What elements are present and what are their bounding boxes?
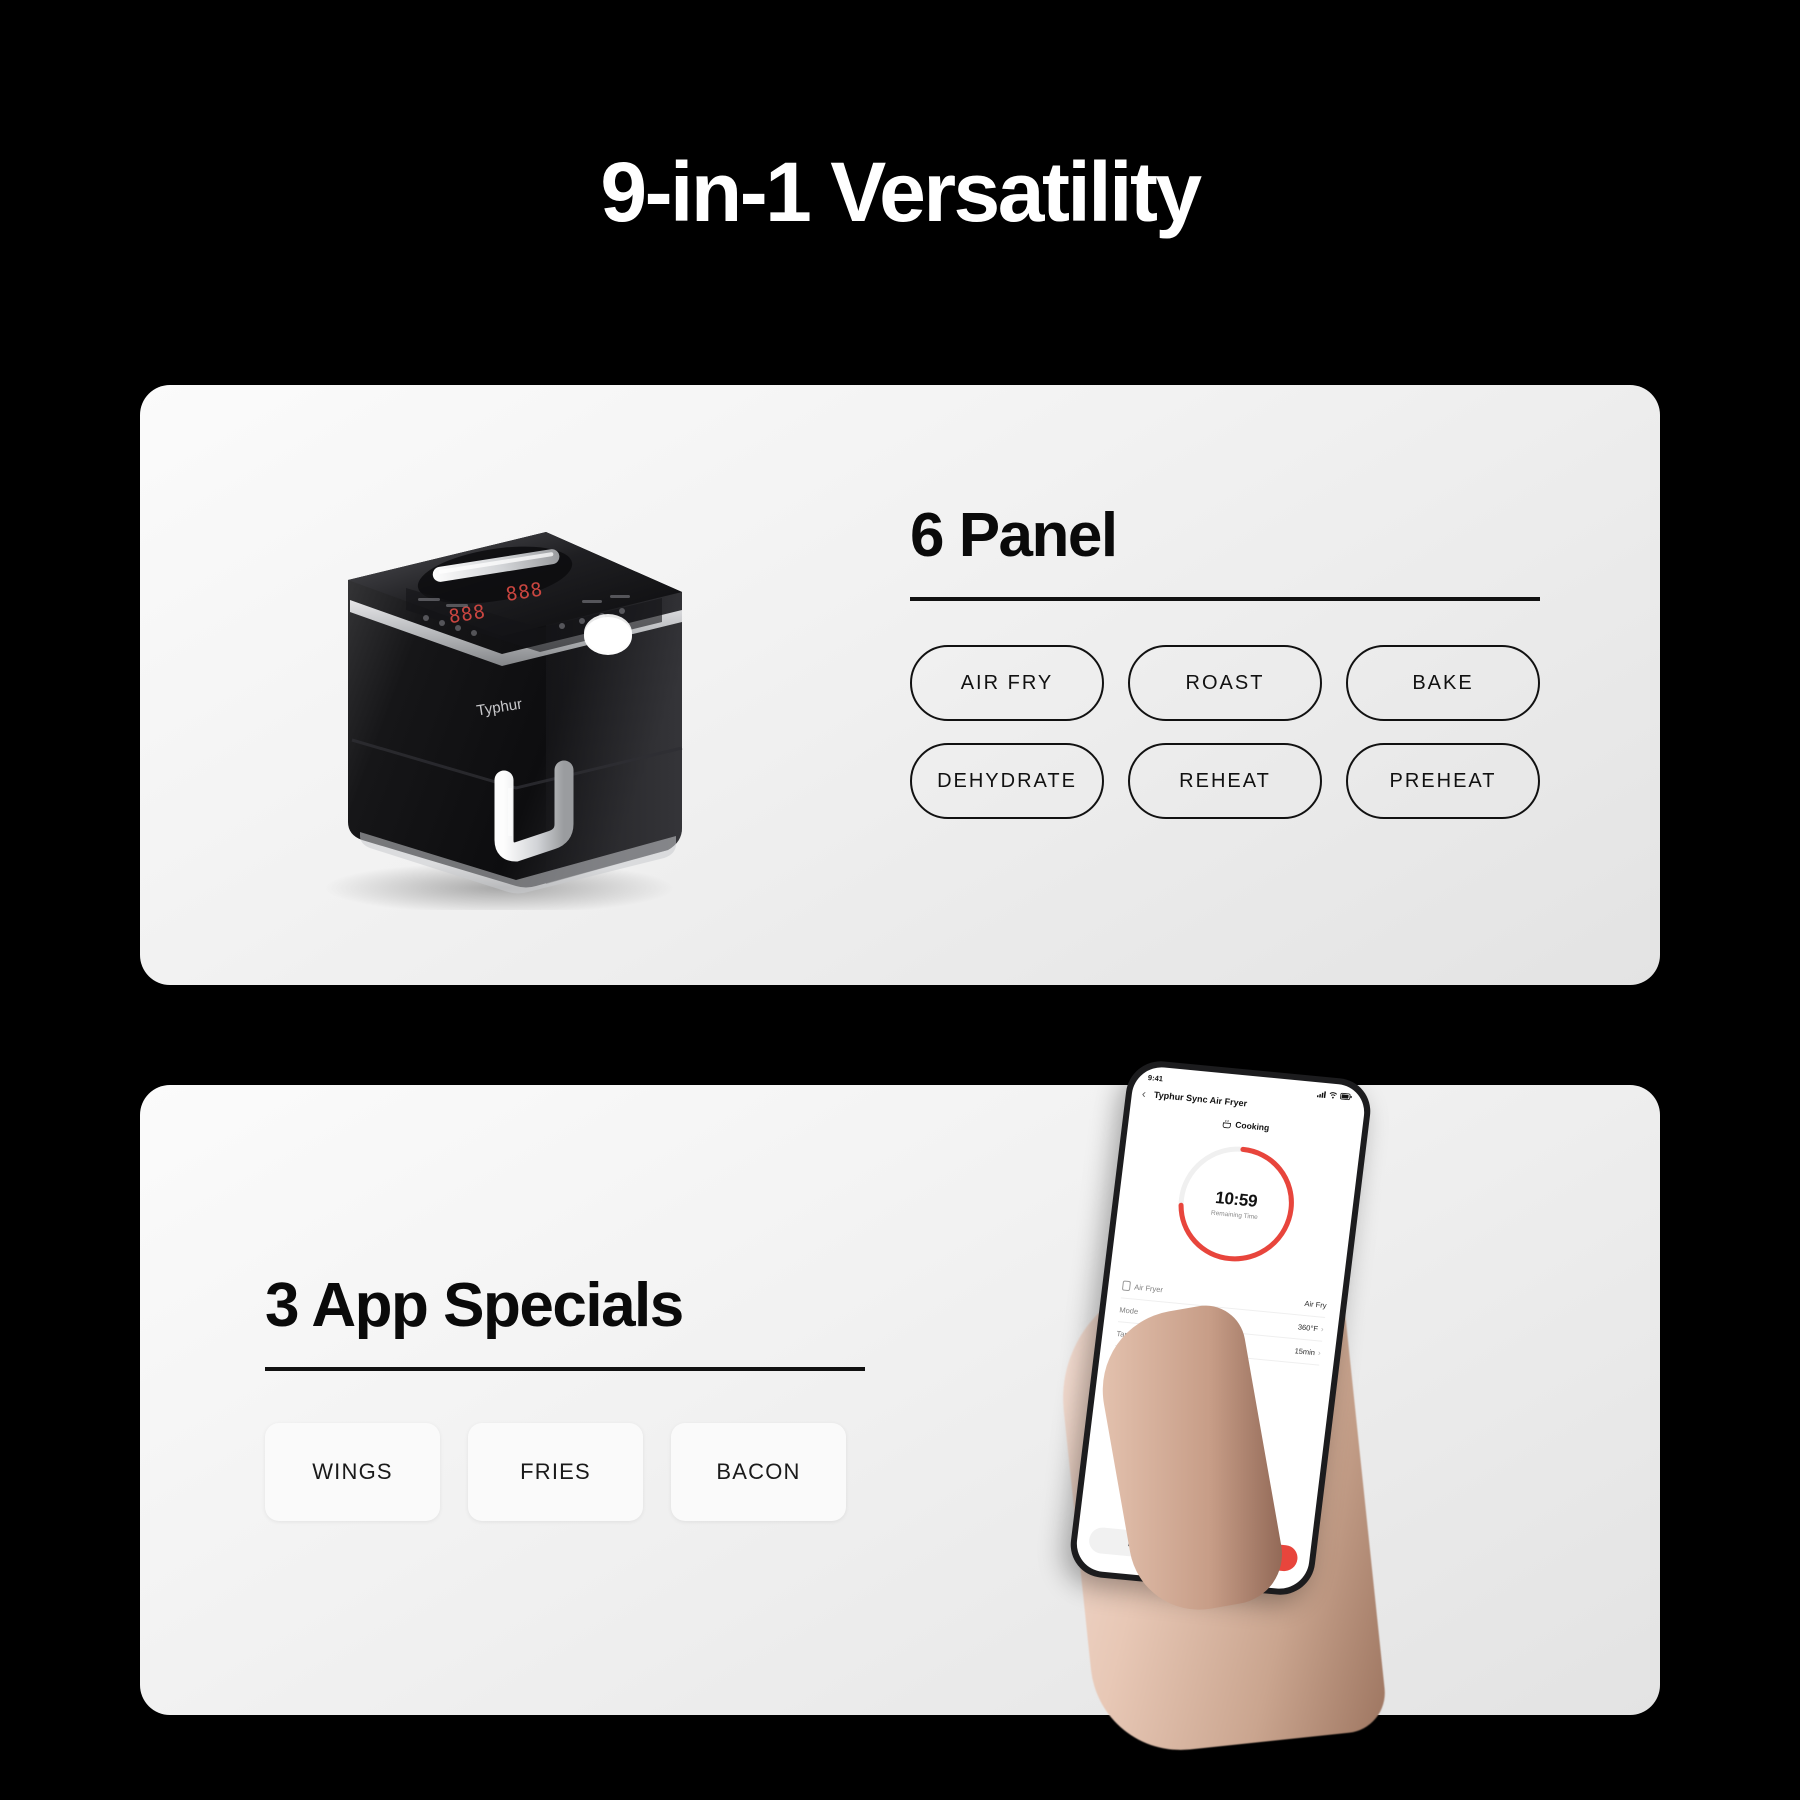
timer-value: 10:59 [1214,1188,1258,1212]
app-title: Typhur Sync Air Fryer [1153,1090,1247,1109]
mode-pill-air-fry[interactable]: AIR FRY [910,645,1104,721]
wifi-icon [1329,1091,1338,1099]
status-time: 9:41 [1147,1073,1163,1083]
marketing-page: 9-in-1 Versatility [0,0,1800,1800]
panel-divider [910,597,1540,601]
row-value-group: 360°F › [1297,1322,1324,1333]
panel-section-title: 6 Panel [910,505,1540,567]
mode-pill-reheat[interactable]: REHEAT [1128,743,1322,819]
chevron-right-icon: › [1320,1325,1324,1334]
chevron-left-icon[interactable]: ‹ [1141,1088,1146,1100]
page-title: 9-in-1 Versatility [0,150,1800,234]
chevron-right-icon: › [1317,1348,1321,1357]
app-section-title: 3 App Specials [265,1275,865,1337]
cellular-signal-icon [1317,1090,1327,1098]
phone-in-hand-image: 9:41 [1020,1060,1600,1740]
row-value: 360°F [1297,1322,1318,1333]
timer-center: 10:59 Remaining Time [1164,1134,1307,1273]
row-label: Air Fryer [1134,1282,1164,1294]
status-bar-icons [1317,1090,1353,1100]
special-chip-fries[interactable]: FRIES [468,1423,643,1521]
app-text-block: 3 App Specials WINGS FRIES BACON [265,1275,865,1521]
app-divider [265,1367,865,1371]
mode-pill-preheat[interactable]: PREHEAT [1346,743,1540,819]
mode-pill-bake[interactable]: BAKE [1346,645,1540,721]
row-label: Mode [1119,1305,1139,1316]
pot-steam-icon [1221,1119,1232,1129]
app-specials-chip-row: WINGS FRIES BACON [265,1423,865,1521]
row-value: 15min [1294,1346,1315,1357]
panel-text-block: 6 Panel AIR FRY ROAST BAKE DEHYDRATE REH… [910,505,1540,819]
cooking-mode-pill-grid: AIR FRY ROAST BAKE DEHYDRATE REHEAT PREH… [910,645,1540,819]
row-value-group: 15min › [1294,1346,1321,1357]
special-chip-bacon[interactable]: BACON [671,1423,846,1521]
battery-icon [1340,1093,1353,1101]
row-value: Air Fry [1304,1298,1327,1309]
air-fryer-product-image: 888 888 Typhur [290,440,710,910]
cooking-status-label: Cooking [1235,1120,1270,1133]
appliance-icon [1122,1280,1131,1291]
mode-pill-dehydrate[interactable]: DEHYDRATE [910,743,1104,819]
cooking-timer-ring: 10:59 Remaining Time [1164,1134,1307,1273]
special-chip-wings[interactable]: WINGS [265,1423,440,1521]
row-label-group: Air Fryer [1122,1280,1164,1294]
mode-pill-roast[interactable]: ROAST [1128,645,1322,721]
